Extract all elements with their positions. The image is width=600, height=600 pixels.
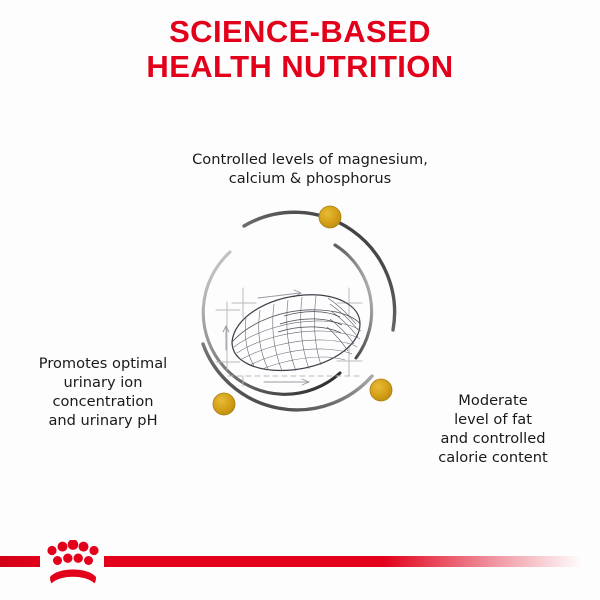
diagram-dot-bottom-left	[213, 393, 235, 415]
page-title-line-1: SCIENCE-BASED	[0, 14, 600, 49]
footer	[0, 540, 600, 600]
diagram-dot-top	[319, 206, 341, 228]
inner-ring	[203, 245, 371, 394]
page-title-line-2: HEALTH NUTRITION	[0, 49, 600, 84]
footer-bar-left	[0, 556, 40, 567]
diagram-dot-bottom-right	[370, 379, 392, 401]
footer-bar-right	[104, 556, 584, 567]
crown-icon	[47, 540, 98, 583]
kibble-wireframe-icon	[216, 288, 362, 386]
central-diagram	[180, 190, 420, 430]
outer-ring	[203, 212, 395, 410]
callout-text-fat-calorie: Moderate level of fat and controlled cal…	[398, 392, 588, 468]
poster-root: SCIENCE-BASED HEALTH NUTRITION Controlle…	[0, 0, 600, 600]
page-title: SCIENCE-BASED HEALTH NUTRITION	[0, 14, 600, 84]
callout-text-magnesium: Controlled levels of magnesium, calcium …	[150, 151, 470, 189]
callout-text-urinary: Promotes optimal urinary ion concentrati…	[8, 355, 198, 431]
